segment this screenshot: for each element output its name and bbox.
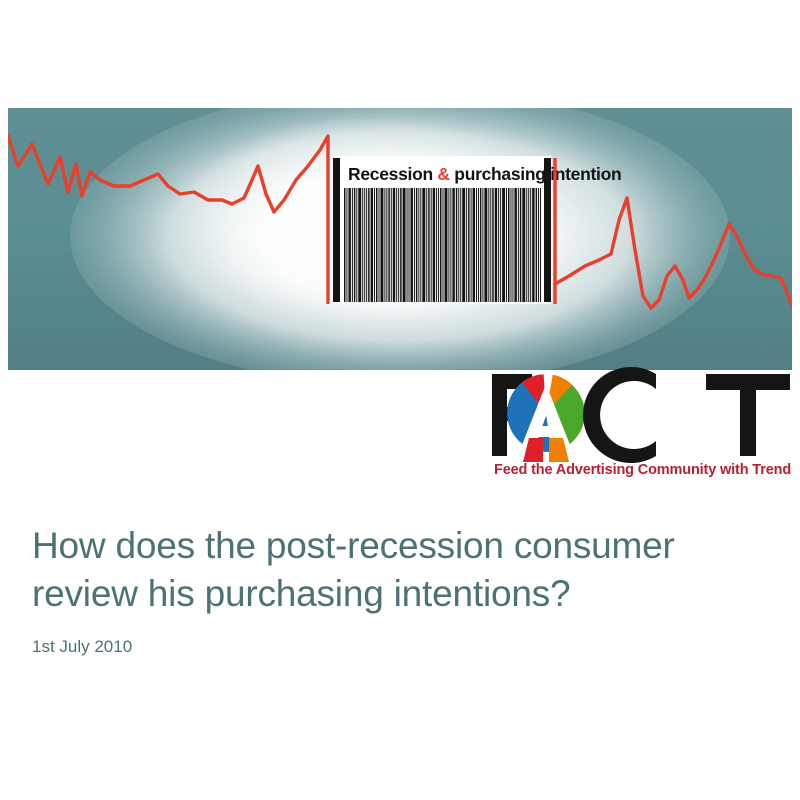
wheel-negative-a-crossbar: [531, 426, 561, 437]
logo-tagline: Feed the Advertising Community with Tren…: [494, 462, 792, 478]
barcode-label-before: Recession: [348, 164, 437, 184]
barcode-guard-right: [544, 158, 551, 302]
slide-date: 1st July 2010: [32, 618, 762, 658]
banner-artwork: Recession & purchasing intention: [8, 108, 792, 370]
barcode-guard-left: [333, 158, 340, 302]
barcode-label-ampersand: &: [437, 164, 450, 184]
barcode-label-text: Recession & purchasing intention: [348, 164, 621, 184]
title-line-2: review his purchasing intentions?: [32, 573, 570, 614]
fact-logo: Feed the Advertising Community with Tren…: [490, 366, 792, 478]
page-title: How does the post-recession consumer rev…: [32, 522, 762, 618]
title-slide: Recession & purchasing intention: [0, 0, 800, 800]
barcode-label-after: purchasing intention: [450, 164, 622, 184]
recession-banner-image: Recession & purchasing intention: [8, 108, 792, 370]
logo-letter-c: [583, 367, 656, 463]
title-line-1: How does the post-recession consumer: [32, 525, 675, 566]
logo-letter-t: [706, 374, 790, 456]
title-block: How does the post-recession consumer rev…: [32, 522, 762, 658]
fact-logo-artwork: Feed the Advertising Community with Tren…: [490, 366, 792, 478]
